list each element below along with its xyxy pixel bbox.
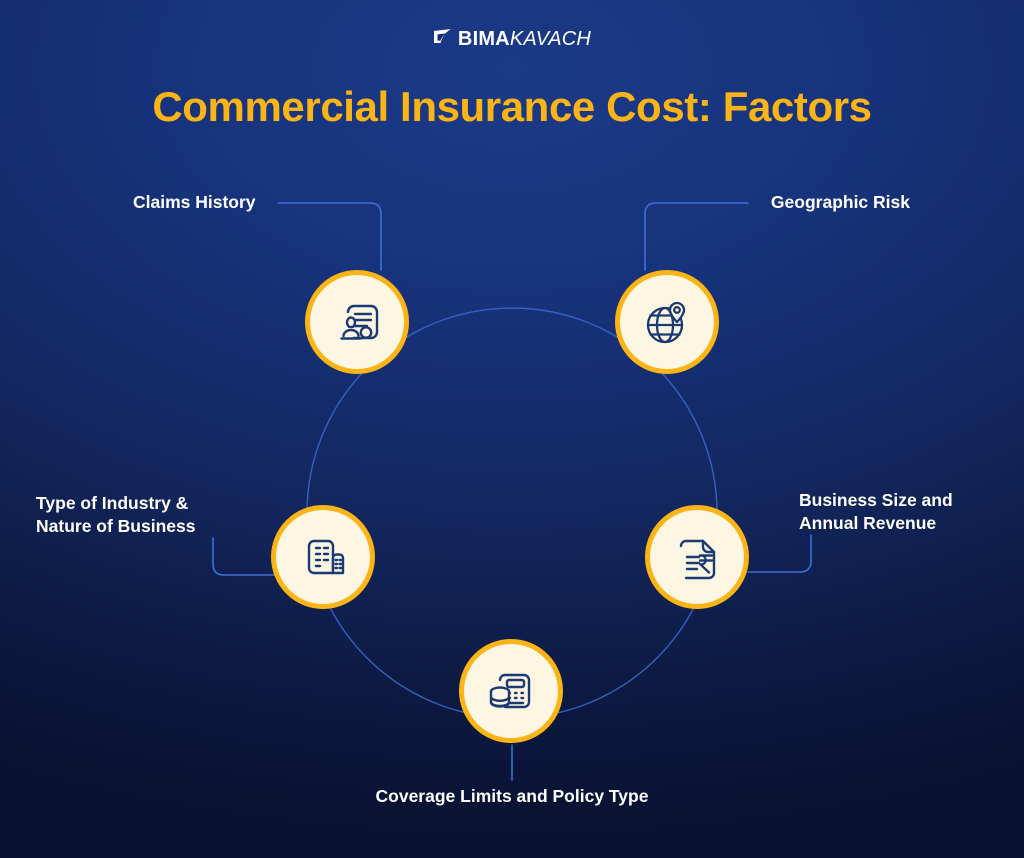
buildings-icon	[295, 529, 351, 585]
node-claims-history[interactable]	[305, 270, 409, 374]
label-claims-history: Claims History	[133, 191, 256, 214]
document-stamp-icon	[329, 294, 385, 350]
connector-type-of-industry	[213, 538, 276, 575]
connector-geographic-risk	[645, 203, 748, 270]
infographic-canvas: BIMAKAVACH Commercial Insurance Cost: Fa…	[0, 0, 1024, 858]
globe-location-pin-icon	[639, 294, 695, 350]
label-geographic-risk: Geographic Risk	[756, 191, 910, 214]
node-geographic-risk[interactable]	[615, 270, 719, 374]
label-type-of-industry: Type of Industry & Nature of Business	[36, 492, 266, 538]
connector-business-size	[748, 535, 811, 572]
connector-claims-history	[278, 203, 381, 270]
label-business-size: Business Size and Annual Revenue	[799, 489, 1009, 535]
node-business-size[interactable]	[645, 505, 749, 609]
calculator-coins-icon	[483, 663, 539, 719]
node-coverage-limits[interactable]	[459, 639, 563, 743]
label-coverage-limits: Coverage Limits and Policy Type	[0, 785, 1024, 808]
document-rupee-icon	[669, 529, 725, 585]
node-type-of-industry[interactable]	[271, 505, 375, 609]
